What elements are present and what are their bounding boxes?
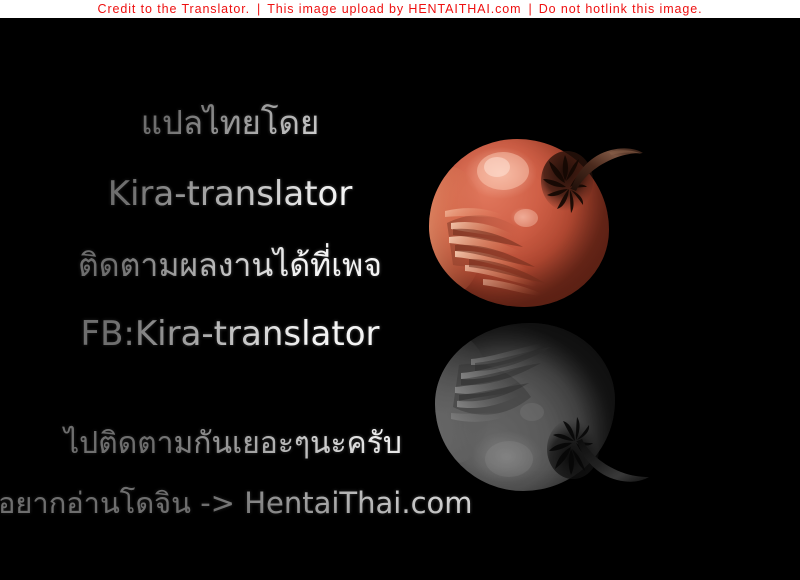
banner-separator: |	[250, 0, 267, 18]
credit-line-site-link: อยากอ่านโดจิน -> HentaiThai.com	[0, 480, 468, 526]
credit-text-block: แปลไทยโดย Kira-translator ติดตามผลงานได้…	[0, 18, 470, 580]
banner-segment-credit: Credit to the Translator.	[98, 0, 250, 18]
banner-segment-hotlink: Do not hotlink this image.	[539, 0, 703, 18]
apple-stem	[565, 141, 647, 195]
banner-separator: |	[521, 0, 538, 18]
banner-segment-upload: This image upload by HENTAITHAI.com	[267, 0, 521, 18]
reflection-stem	[571, 435, 653, 489]
apple-reflection	[421, 317, 641, 497]
credit-banner: Credit to the Translator. | This image u…	[0, 0, 800, 18]
credit-line-follow-call: ไปติดตามกันเยอะๆนะครับ	[0, 420, 468, 467]
translator-credit-page: Credit to the Translator. | This image u…	[0, 0, 800, 580]
credit-line-translator-name: Kira-translator	[0, 174, 465, 214]
apple-illustration	[415, 125, 645, 495]
credit-line-translated-by: แปลไทยโดย	[0, 96, 465, 149]
credit-line-facebook-page: FB:Kira-translator	[0, 314, 465, 354]
credit-line-follow-page: ติดตามผลงานได้ที่เพจ	[0, 240, 465, 291]
